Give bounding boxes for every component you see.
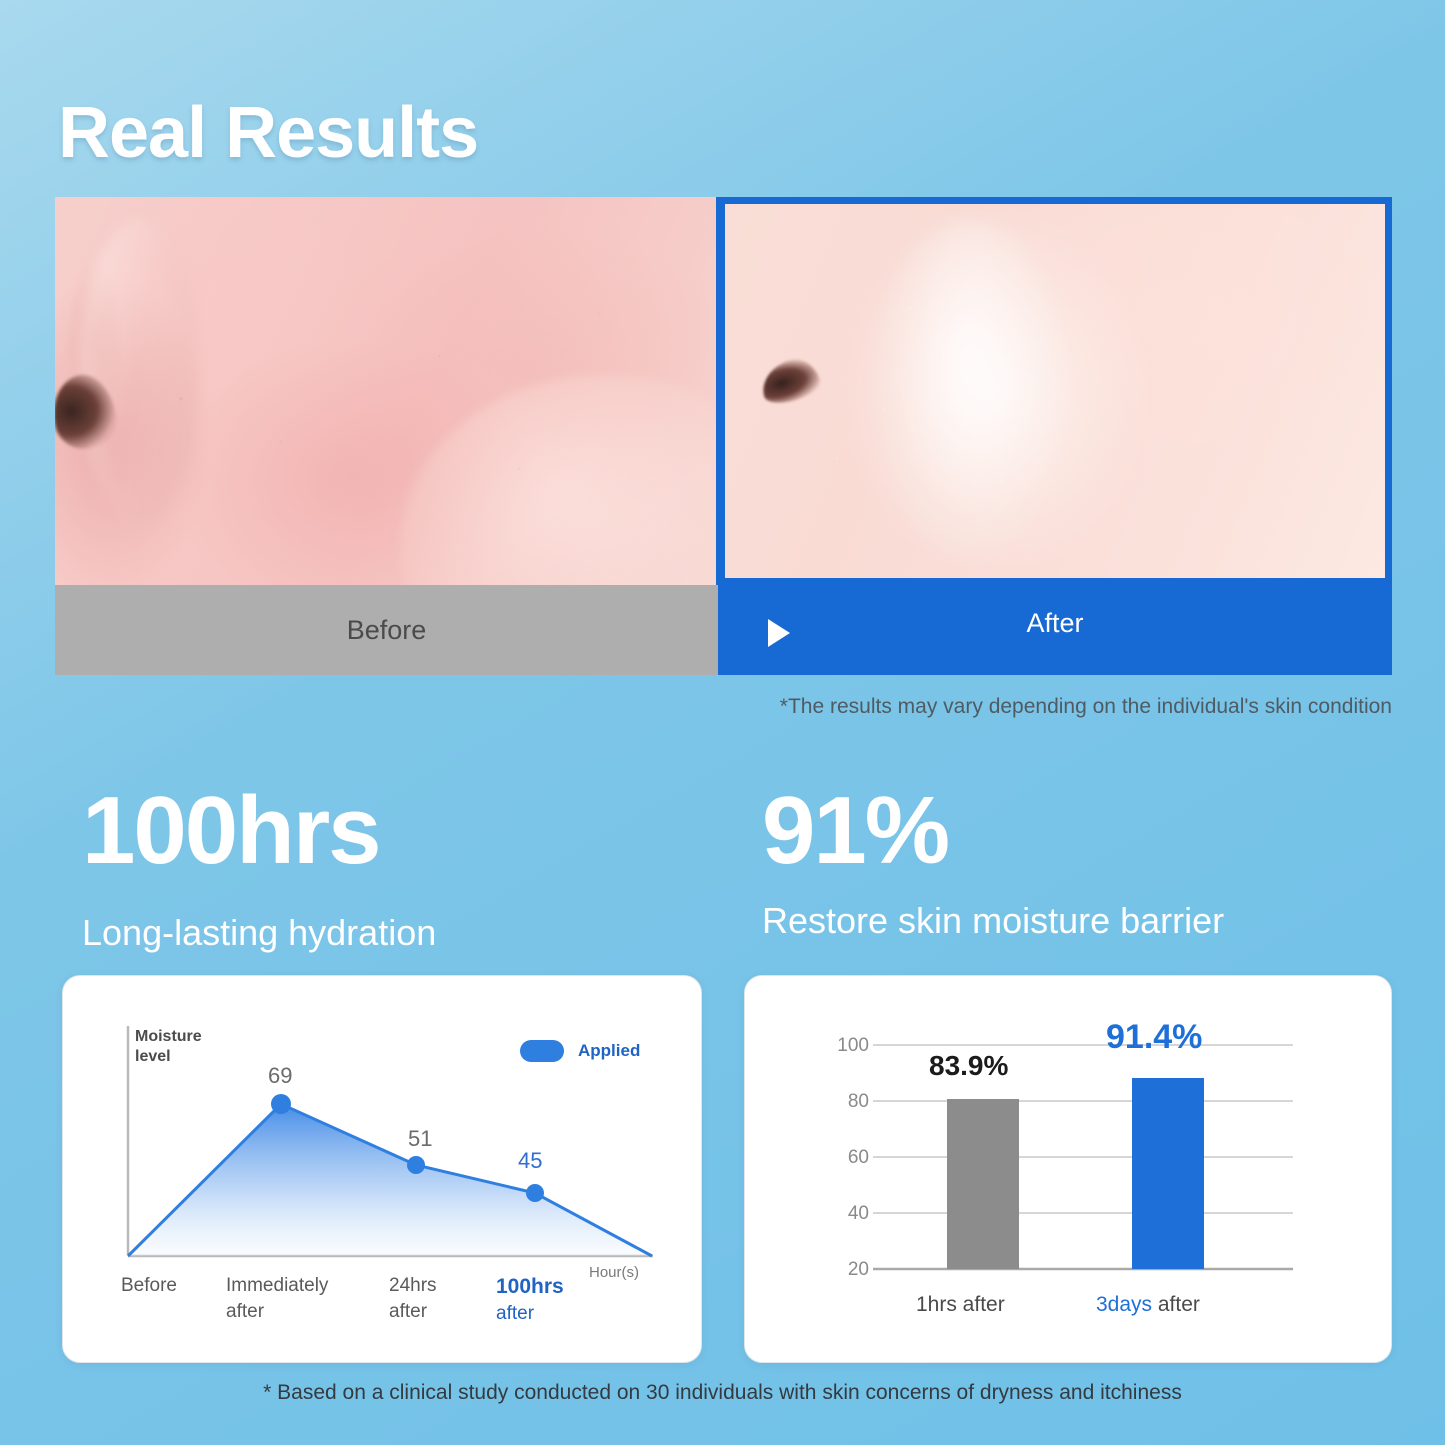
comparison-divider (716, 197, 722, 585)
footer-disclaimer: * Based on a clinical study conducted on… (0, 1381, 1445, 1405)
bar-y-tick-40: 40 (823, 1203, 869, 1225)
bar-chart-plot (0, 0, 1445, 1445)
bar-y-tick-80: 80 (823, 1091, 869, 1113)
bar-x-label-3days: 3days after (1096, 1293, 1200, 1317)
bar-y-tick-100: 100 (823, 1035, 869, 1057)
bar-y-tick-60: 60 (823, 1147, 869, 1169)
bar-value-label-3days: 91.4% (1106, 1018, 1202, 1057)
bar-x-label-1hrs: 1hrs after (916, 1293, 1005, 1317)
play-icon[interactable] (743, 600, 809, 666)
bar-y-tick-20: 20 (823, 1259, 869, 1281)
bar-value-label-1hrs: 83.9% (929, 1050, 1008, 1082)
